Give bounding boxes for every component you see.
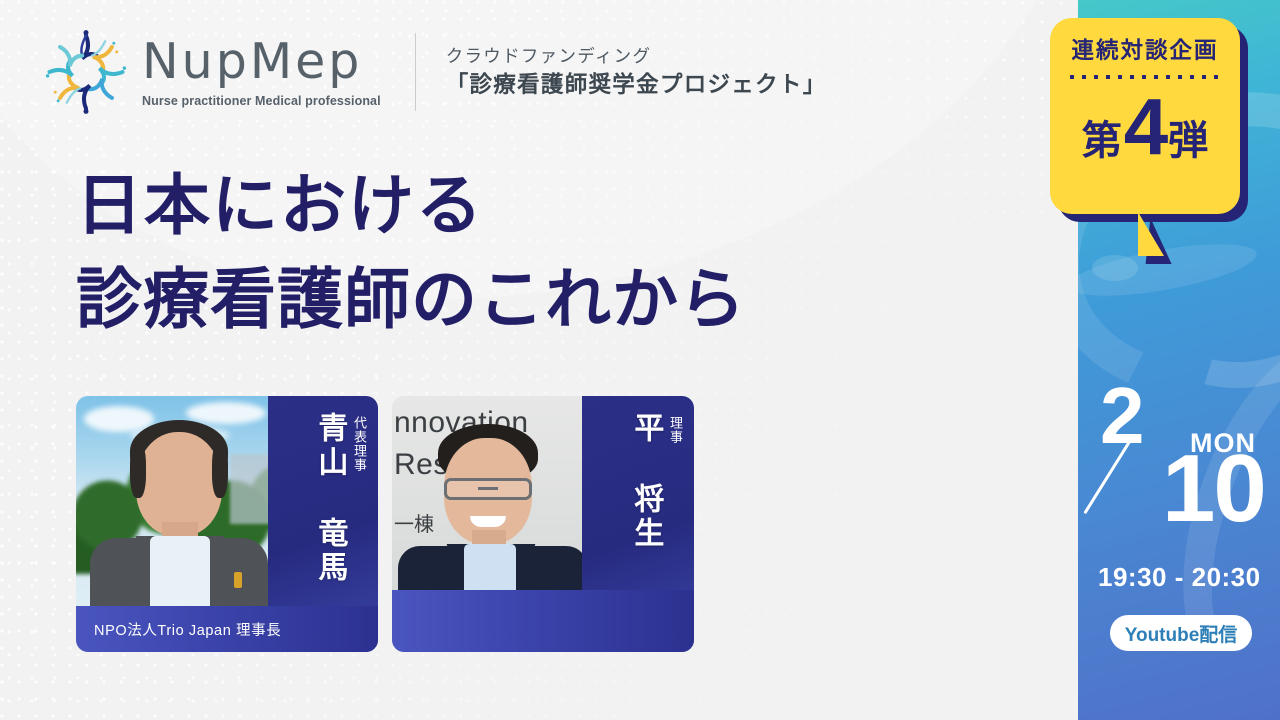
badge-edition: 第 4 弾 — [1082, 89, 1209, 166]
speaker-card: 代表理事 青山 竜馬 NPO法人Trio Japan 理事長 — [76, 396, 378, 652]
brand-name: NupMep — [142, 37, 381, 86]
main-title: 日本における 診療看護師のこれから — [76, 160, 746, 347]
event-time: 19:30 - 20:30 — [1098, 562, 1261, 593]
badge-body: 連続対談企画 第 4 弾 — [1050, 18, 1240, 214]
speaker-role: 代表理事 — [352, 416, 366, 472]
brand-block: NupMep Nurse practitioner Medical profes… — [142, 37, 381, 108]
badge-tail-icon — [1138, 212, 1190, 256]
speaker-caption-bar — [392, 590, 694, 652]
badge-suffix: 弾 — [1168, 108, 1208, 166]
header-divider — [415, 33, 416, 111]
photo-background-sign-3: 一棟 — [394, 508, 434, 537]
speaker-name: 青山 竜馬 — [313, 412, 346, 585]
brand-tagline: Nurse practitioner Medical professional — [142, 95, 381, 108]
platform-badge[interactable]: Youtube配信 — [1110, 615, 1252, 651]
speaker-caption-bar: NPO法人Trio Japan 理事長 — [76, 606, 378, 652]
main-title-line-2: 診療看護師のこれから — [76, 254, 746, 348]
banner-canvas: NupMep Nurse practitioner Medical profes… — [0, 0, 1280, 720]
event-day: 10 — [1162, 446, 1265, 532]
speaker-role: 理事 — [668, 416, 682, 444]
event-date-block: 2 MON 10 19:30 - 20:30 Youtube配信 — [1078, 380, 1280, 680]
speaker-name: 平 将生 — [629, 412, 662, 551]
event-month: 2 — [1100, 380, 1143, 452]
nupmep-logo-icon — [38, 24, 134, 120]
badge-dotted-divider — [1070, 75, 1220, 79]
campaign-block: クラウドファンディング 「診療看護師奨学金プロジェクト」 — [446, 48, 827, 97]
speaker-card: nnovation Rese 一棟 理事 平 将生 — [392, 396, 694, 652]
speaker-photo — [76, 396, 276, 608]
series-badge: 連続対談企画 第 4 弾 — [1050, 18, 1248, 258]
header: NupMep Nurse practitioner Medical profes… — [38, 24, 827, 120]
speaker-caption: NPO法人Trio Japan 理事長 — [94, 619, 281, 640]
badge-number: 4 — [1124, 89, 1167, 165]
badge-prefix: 第 — [1082, 108, 1122, 166]
campaign-kicker: クラウドファンディング — [446, 48, 827, 66]
badge-top-label: 連続対談企画 — [1071, 40, 1218, 63]
main-title-line-1: 日本における — [76, 160, 746, 254]
campaign-title: 「診療看護師奨学金プロジェクト」 — [446, 74, 827, 97]
wave-dot-decoration — [1092, 255, 1138, 281]
